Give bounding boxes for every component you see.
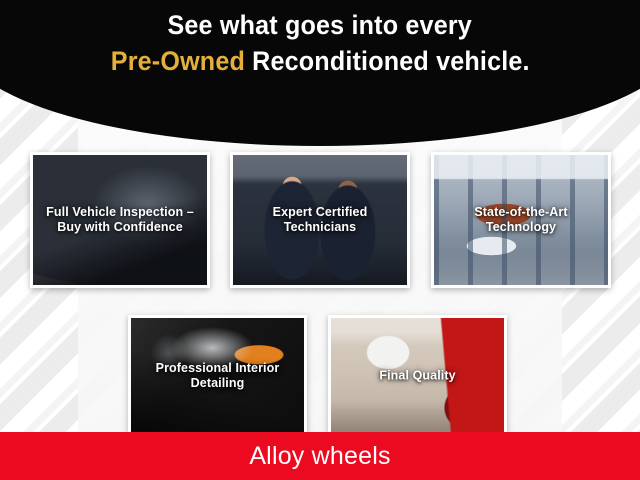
vehicle-reconditioning-infographic: See what goes into every Pre-Owned Recon… [0,0,640,480]
card-photo-full-vehicle-inspection: Full Vehicle Inspection – Buy with Confi… [33,155,207,285]
header-banner: See what goes into every Pre-Owned Recon… [0,0,640,146]
card-professional-interior-detailing[interactable]: Professional Interior Detailing [128,315,307,436]
card-photo-expert-certified-technicians: Expert Certified Technicians [233,155,407,285]
card-caption-expert-certified-technicians: Expert Certified Technicians [237,205,403,235]
card-caption-final-quality: Final Quality [335,368,500,383]
card-caption-state-of-the-art-technology: State-of-the-Art Technology [438,205,604,235]
card-photo-professional-interior-detailing: Professional Interior Detailing [131,318,304,433]
card-final-quality[interactable]: Final Quality [328,315,507,436]
card-photo-final-quality: Final Quality [331,318,504,433]
card-photo-state-of-the-art-technology: State-of-the-Art Technology [434,155,608,285]
headline-line-2-rest: Reconditioned vehicle. [245,46,530,76]
banner-label-alloy-wheels: Alloy wheels [249,444,390,469]
headline-line-2: Pre-Owned Reconditioned vehicle. [111,44,530,78]
card-caption-full-vehicle-inspection: Full Vehicle Inspection – Buy with Confi… [37,205,203,235]
header-content: See what goes into every Pre-Owned Recon… [0,0,640,146]
headline-line-1: See what goes into every [168,8,473,42]
card-full-vehicle-inspection[interactable]: Full Vehicle Inspection – Buy with Confi… [30,152,210,288]
card-caption-professional-interior-detailing: Professional Interior Detailing [135,361,300,391]
card-state-of-the-art-technology[interactable]: State-of-the-Art Technology [431,152,611,288]
headline-highlight-pre-owned: Pre-Owned [111,46,245,76]
bottom-feature-banner: Alloy wheels [0,432,640,480]
card-expert-certified-technicians[interactable]: Expert Certified Technicians [230,152,410,288]
